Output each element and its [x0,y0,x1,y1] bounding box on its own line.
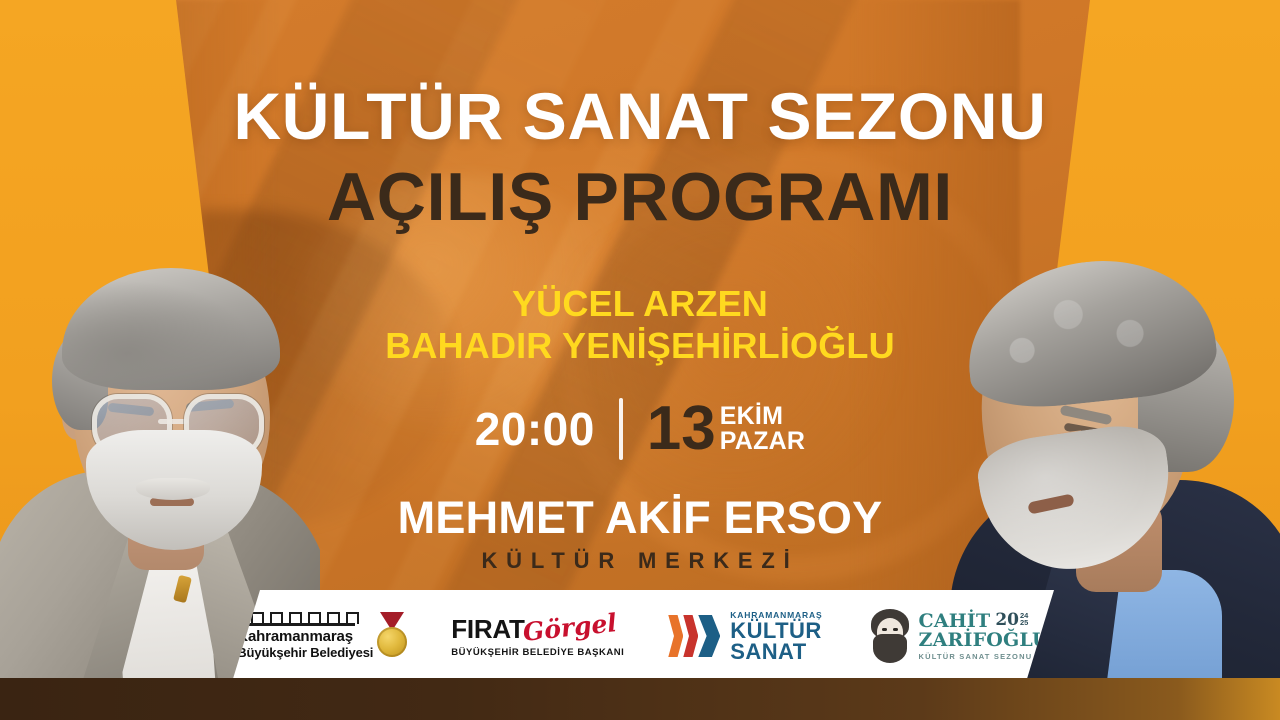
kultur-sanat-line2: SANAT [730,641,822,662]
mayor-first-name: FIRAT [451,614,524,645]
portrait-icon-eye [893,628,898,631]
venue-subtitle: KÜLTÜR MERKEZİ [0,548,1280,574]
portrait-icon-beard [873,634,907,663]
cahit-season-year: 20 24 25 [995,612,1028,629]
logo-kahramanmaras-belediyesi: Kahramanmaraş Büyükşehir Belediyesi [237,612,407,660]
municipality-text-block: Kahramanmaraş Büyükşehir Belediyesi [237,612,373,660]
cahit-season-subtitle: KÜLTÜR SANAT SEZONU [919,652,1049,661]
mayor-title: BÜYÜKŞEHİR BELEDİYE BAŞKANI [451,647,624,658]
bottom-strip [0,678,1280,720]
event-schedule: 20:00 13 EKİM PAZAR [0,398,1280,460]
mayor-last-name: Görgel [521,608,618,647]
logo-firat-gorgel: FIRAT Görgel BÜYÜKŞEHİR BELEDİYE BAŞKANI [451,614,624,658]
season-year-bottom: 25 [1020,619,1028,627]
event-month: EKİM [720,404,806,430]
event-poster: KÜLTÜR SANAT SEZONU AÇILIŞ PROGRAMI YÜCE… [0,0,1280,720]
municipality-name: Büyükşehir Belediyesi [237,646,373,661]
season-year-stack: 24 25 [1020,612,1028,628]
season-year-prefix: 20 [995,612,1019,629]
cahit-last-name: ZARİFOĞLU [919,631,1049,650]
sponsor-logo-bar: Kahramanmaraş Büyükşehir Belediyesi FIRA… [232,590,1054,682]
medal-disc [377,627,407,657]
cahit-zarifoglu-portrait-icon [867,609,913,663]
event-month-weekday: EKİM PAZAR [720,404,806,455]
event-day-number: 13 [647,400,716,457]
event-time: 20:00 [475,402,595,456]
cahit-first-name: CAHİT [919,612,991,631]
cahit-zarifoglu-text: CAHİT 20 24 25 ZARİFOĞLU KÜLTÜR SANAT SE… [919,612,1049,661]
venue-name: MEHMET AKİF ERSOY [0,492,1280,544]
poster-title-line1: KÜLTÜR SANAT SEZONU [0,78,1280,154]
event-venue: MEHMET AKİF ERSOY KÜLTÜR MERKEZİ [0,492,1280,574]
kultur-sanat-text: KAHRAMANMARAŞ KÜLTÜR SANAT [730,610,822,662]
medal-icon [377,612,407,660]
speaker-name-1: YÜCEL ARZEN [0,283,1280,325]
logo-cahit-zarifoglu: CAHİT 20 24 25 ZARİFOĞLU KÜLTÜR SANAT SE… [867,609,1049,663]
schedule-divider [619,398,623,460]
municipality-city: Kahramanmaraş [237,629,353,646]
speaker-name-2: BAHADIR YENİŞEHİRLİOĞLU [0,325,1280,367]
speaker-list: YÜCEL ARZEN BAHADIR YENİŞEHİRLİOĞLU [0,283,1280,367]
kks-monogram-icon [668,613,722,659]
cahit-name-row: CAHİT 20 24 25 [919,612,1049,631]
poster-title-line2: AÇILIŞ PROGRAMI [0,158,1280,236]
castle-battlement-icon [237,612,355,626]
battlement-teeth [251,612,359,624]
logo-kultur-sanat: KAHRAMANMARAŞ KÜLTÜR SANAT [668,610,822,662]
kultur-sanat-line1: KÜLTÜR [730,620,822,641]
portrait-icon-eye [882,628,887,631]
event-weekday: PAZAR [720,429,806,455]
mayor-name-row: FIRAT Görgel [451,614,616,645]
event-date: 13 EKİM PAZAR [647,400,805,457]
